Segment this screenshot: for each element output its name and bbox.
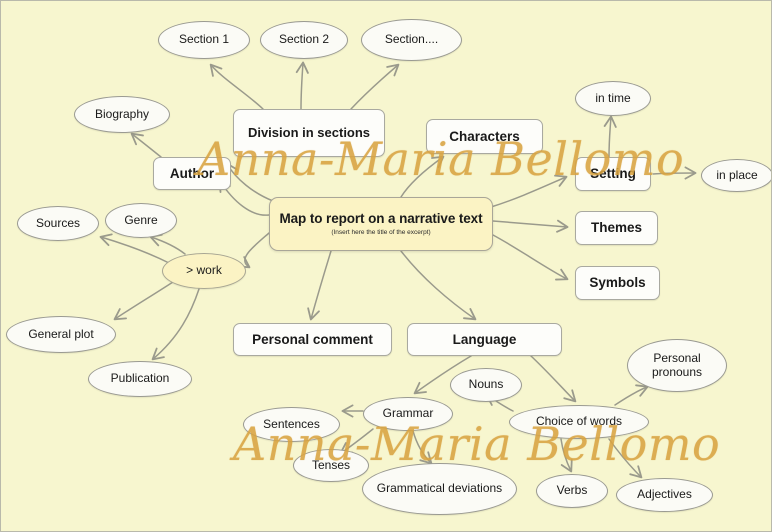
node-label: Section 1: [174, 33, 234, 46]
node-symbols[interactable]: Symbols: [575, 266, 660, 300]
node-label: Characters: [444, 129, 525, 144]
node-author[interactable]: Author: [153, 157, 231, 190]
edge-work-to-genplot: [115, 282, 173, 319]
node-label: Personal comment: [247, 332, 378, 347]
edge-central-to-characters: [401, 157, 443, 197]
node-label: Publication: [106, 372, 175, 385]
node-label: in place: [711, 169, 762, 182]
node-label: Setting: [585, 166, 641, 181]
node-label: in time: [590, 92, 635, 105]
edge-choice-to-adjectives: [609, 439, 641, 477]
edge-choice-to-persprn: [615, 387, 647, 405]
central-node-subtitle: (Insert here the title of the excerpt): [331, 229, 430, 236]
edge-central-to-division: [227, 164, 273, 201]
node-label: Author: [165, 166, 219, 181]
edge-central-to-themes: [493, 221, 567, 227]
node-tenses[interactable]: Tenses: [293, 449, 369, 482]
edge-setting-to-inplace: [653, 173, 695, 174]
node-sources[interactable]: Sources: [17, 206, 99, 241]
node-label: Division in sections: [243, 126, 375, 141]
node-division[interactable]: Division in sections: [233, 109, 385, 157]
node-personal[interactable]: Personal comment: [233, 323, 392, 356]
node-inplace[interactable]: in place: [701, 159, 772, 192]
edge-central-to-language: [401, 251, 475, 319]
edge-central-to-symbols: [493, 235, 567, 279]
node-adjectives[interactable]: Adjectives: [616, 478, 713, 512]
edge-grammar-to-gramdev: [413, 431, 431, 463]
node-label: Section....: [380, 33, 443, 46]
node-publication[interactable]: Publication: [88, 361, 192, 397]
node-label: Grammatical deviations: [372, 482, 507, 495]
edge-division-to-section2: [301, 63, 303, 109]
edge-central-to-work: [245, 233, 269, 267]
node-label: Adjectives: [632, 488, 697, 501]
node-label: Symbols: [584, 275, 650, 290]
node-biography[interactable]: Biography: [74, 96, 170, 133]
node-setting[interactable]: Setting: [575, 157, 651, 191]
edge-author-to-biography: [132, 134, 161, 157]
edge-division-to-section1: [211, 65, 263, 109]
node-label: Grammar: [378, 407, 439, 420]
edge-central-to-setting: [491, 177, 566, 207]
node-label: Sources: [31, 217, 85, 230]
node-verbs[interactable]: Verbs: [536, 474, 608, 508]
node-themes[interactable]: Themes: [575, 211, 658, 245]
concept-map-canvas: Section 1Section 2Section....in timeBiog…: [0, 0, 772, 532]
node-section2[interactable]: Section 2: [260, 21, 348, 59]
node-characters[interactable]: Characters: [426, 119, 543, 154]
node-label: > work: [181, 264, 227, 277]
edge-division-to-section3: [351, 65, 398, 109]
node-label: Section 2: [274, 33, 334, 46]
node-label: Biography: [90, 108, 154, 121]
node-section3[interactable]: Section....: [361, 19, 462, 61]
node-label: Themes: [586, 220, 647, 235]
edge-work-to-sources: [101, 237, 169, 263]
node-label: Personal pronouns: [628, 352, 726, 379]
edge-work-to-publication: [153, 289, 199, 359]
central-node-map-to-report[interactable]: Map to report on a narrative text (Inser…: [269, 197, 493, 251]
central-node-title: Map to report on a narrative text: [274, 211, 489, 226]
node-genre[interactable]: Genre: [105, 203, 177, 238]
node-label: Nouns: [464, 378, 509, 391]
node-intime[interactable]: in time: [575, 81, 651, 116]
node-work[interactable]: > work: [162, 253, 246, 289]
node-section1[interactable]: Section 1: [158, 21, 250, 59]
edge-setting-to-intime: [609, 117, 611, 157]
node-label: Language: [448, 332, 522, 347]
node-label: Genre: [119, 214, 162, 227]
node-gramdev[interactable]: Grammatical deviations: [362, 463, 517, 515]
node-label: Tenses: [307, 459, 355, 472]
node-nouns[interactable]: Nouns: [450, 368, 522, 402]
edge-central-to-personal: [311, 251, 331, 319]
node-language[interactable]: Language: [407, 323, 562, 356]
edge-choice-to-verbs: [561, 439, 571, 471]
node-label: General plot: [23, 328, 98, 341]
node-choice[interactable]: Choice of words: [509, 405, 649, 439]
node-sentences[interactable]: Sentences: [243, 407, 340, 442]
node-label: Sentences: [258, 418, 325, 431]
edge-language-to-choice: [531, 356, 575, 401]
node-persprn[interactable]: Personal pronouns: [627, 339, 727, 392]
node-label: Verbs: [552, 484, 593, 497]
edge-work-to-genre: [151, 237, 185, 254]
node-genplot[interactable]: General plot: [6, 316, 116, 353]
node-grammar[interactable]: Grammar: [363, 397, 453, 431]
node-label: Choice of words: [531, 415, 627, 428]
